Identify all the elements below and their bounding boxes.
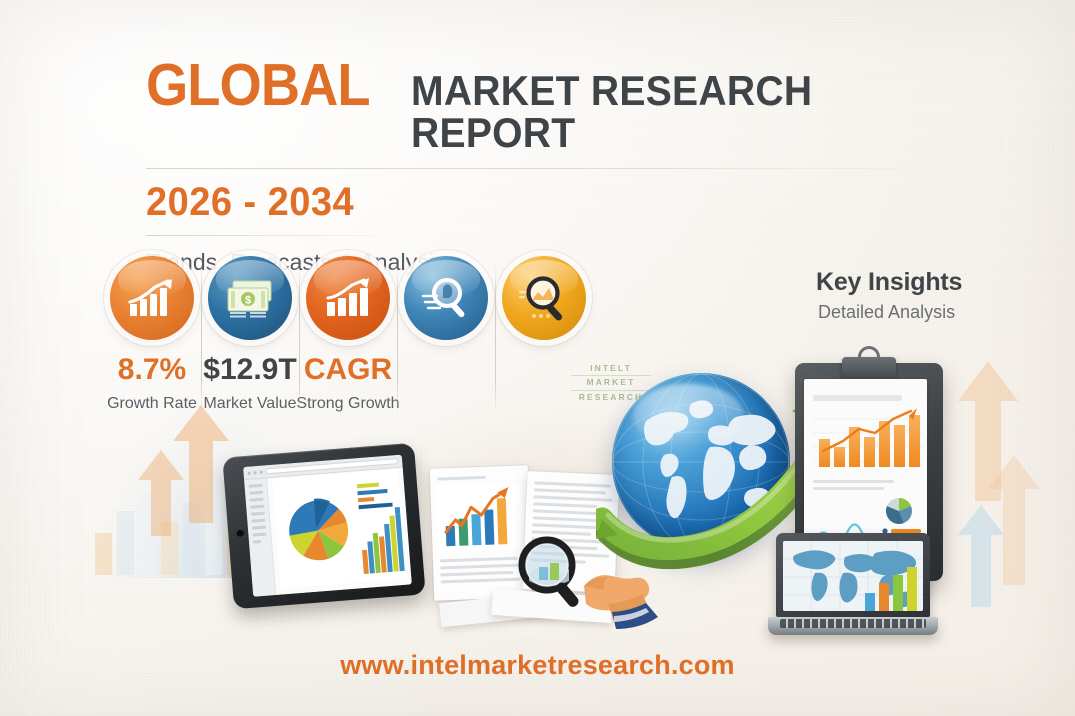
clipboard-bar-chart bbox=[813, 407, 923, 473]
stat-card-key-insights bbox=[495, 256, 593, 340]
magnifier-insight-icon bbox=[502, 256, 586, 340]
svg-text:$: $ bbox=[245, 295, 251, 307]
laptop-world-map bbox=[768, 533, 938, 641]
tablet-dashboard bbox=[222, 443, 425, 610]
page-title: GLOBAL MARKET RESEARCH REPORT bbox=[146, 56, 956, 154]
illustration-stage bbox=[0, 355, 1075, 655]
growth-bar-chart-arrow-icon bbox=[110, 256, 194, 340]
stat-card-research bbox=[397, 256, 495, 365]
key-insights-title: Key Insights bbox=[816, 268, 962, 297]
title-rest: MARKET RESEARCH REPORT bbox=[411, 70, 918, 154]
title-divider bbox=[146, 168, 952, 169]
report-years: 2026 - 2034 bbox=[146, 180, 916, 224]
website-url[interactable]: www.intelmarketresearch.com bbox=[0, 650, 1075, 681]
key-insights-block: Key Insights Detailed Analysis bbox=[816, 268, 962, 323]
report-header: GLOBAL MARKET RESEARCH REPORT 2026 - 203… bbox=[146, 56, 956, 276]
money-banknote-icon: $ bbox=[208, 256, 292, 340]
magnifier-document-icon bbox=[404, 256, 488, 340]
background-arrow-orange-small bbox=[138, 450, 184, 536]
laptop-base bbox=[768, 617, 938, 635]
laptop-screen bbox=[783, 541, 923, 611]
tablet-screen bbox=[243, 455, 412, 597]
clipboard-clip bbox=[842, 357, 896, 381]
bar-chart-arrow-icon bbox=[306, 256, 390, 340]
key-insights-subtitle: Detailed Analysis bbox=[818, 302, 962, 323]
laptop-keyboard bbox=[780, 619, 926, 628]
clipboard-pie-chart bbox=[886, 498, 912, 524]
tablet-chart-area bbox=[267, 468, 412, 595]
background-arrow-blue bbox=[958, 505, 1004, 607]
subtitle-divider bbox=[146, 235, 414, 236]
title-highlight: GLOBAL bbox=[146, 56, 370, 115]
